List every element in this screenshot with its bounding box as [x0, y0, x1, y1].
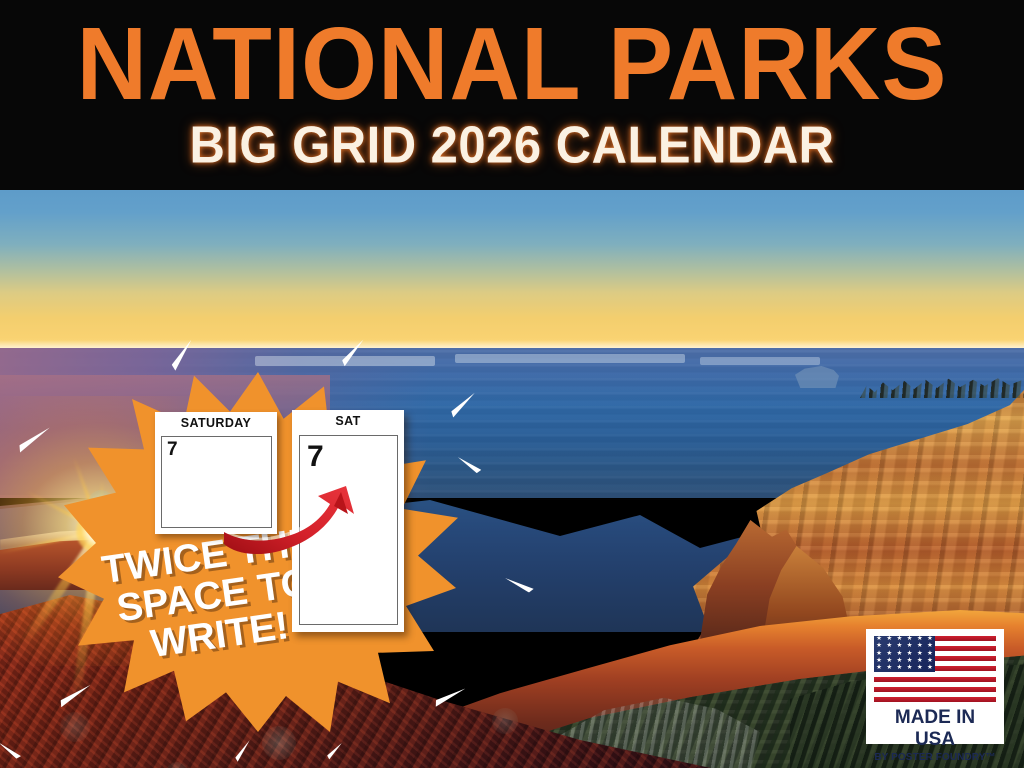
calendar-cell-small-day-number: 7 — [167, 439, 178, 461]
product-poster: NATIONAL PARKS BIG GRID 2026 CALENDAR TW… — [0, 0, 1024, 768]
lens-flare-dot — [492, 708, 518, 734]
calendar-cell-large-day-number: 7 — [307, 440, 324, 474]
distant-mesa-2 — [455, 354, 685, 363]
distant-mesa-3 — [700, 357, 820, 365]
curved-upgrade-arrow-icon — [222, 482, 382, 568]
calendar-cell-large-day-label: SAT — [292, 410, 404, 432]
page-title: NATIONAL PARKS — [0, 6, 1024, 122]
made-in-usa-primary-text: MADE IN USA — [874, 707, 996, 751]
calendar-cell-small-day-label: SATURDAY — [155, 412, 277, 434]
flag-stars: ★★★★★★ ★★★★★★ ★★★★★★ ★★★★★★ ★★★★★★ — [874, 636, 935, 672]
flag-canton: ★★★★★★ ★★★★★★ ★★★★★★ ★★★★★★ ★★★★★★ — [874, 636, 935, 672]
sky-gradient — [0, 190, 1024, 350]
us-flag-icon: ★★★★★★ ★★★★★★ ★★★★★★ ★★★★★★ ★★★★★★ — [874, 636, 996, 702]
page-subtitle: BIG GRID 2026 CALENDAR — [0, 116, 1024, 176]
made-in-usa-badge: ★★★★★★ ★★★★★★ ★★★★★★ ★★★★★★ ★★★★★★ MADE … — [866, 629, 1004, 744]
made-in-usa-secondary-text: BY POSTER FOUNDRY™ — [874, 752, 996, 763]
header-band: NATIONAL PARKS BIG GRID 2026 CALENDAR — [0, 0, 1024, 190]
